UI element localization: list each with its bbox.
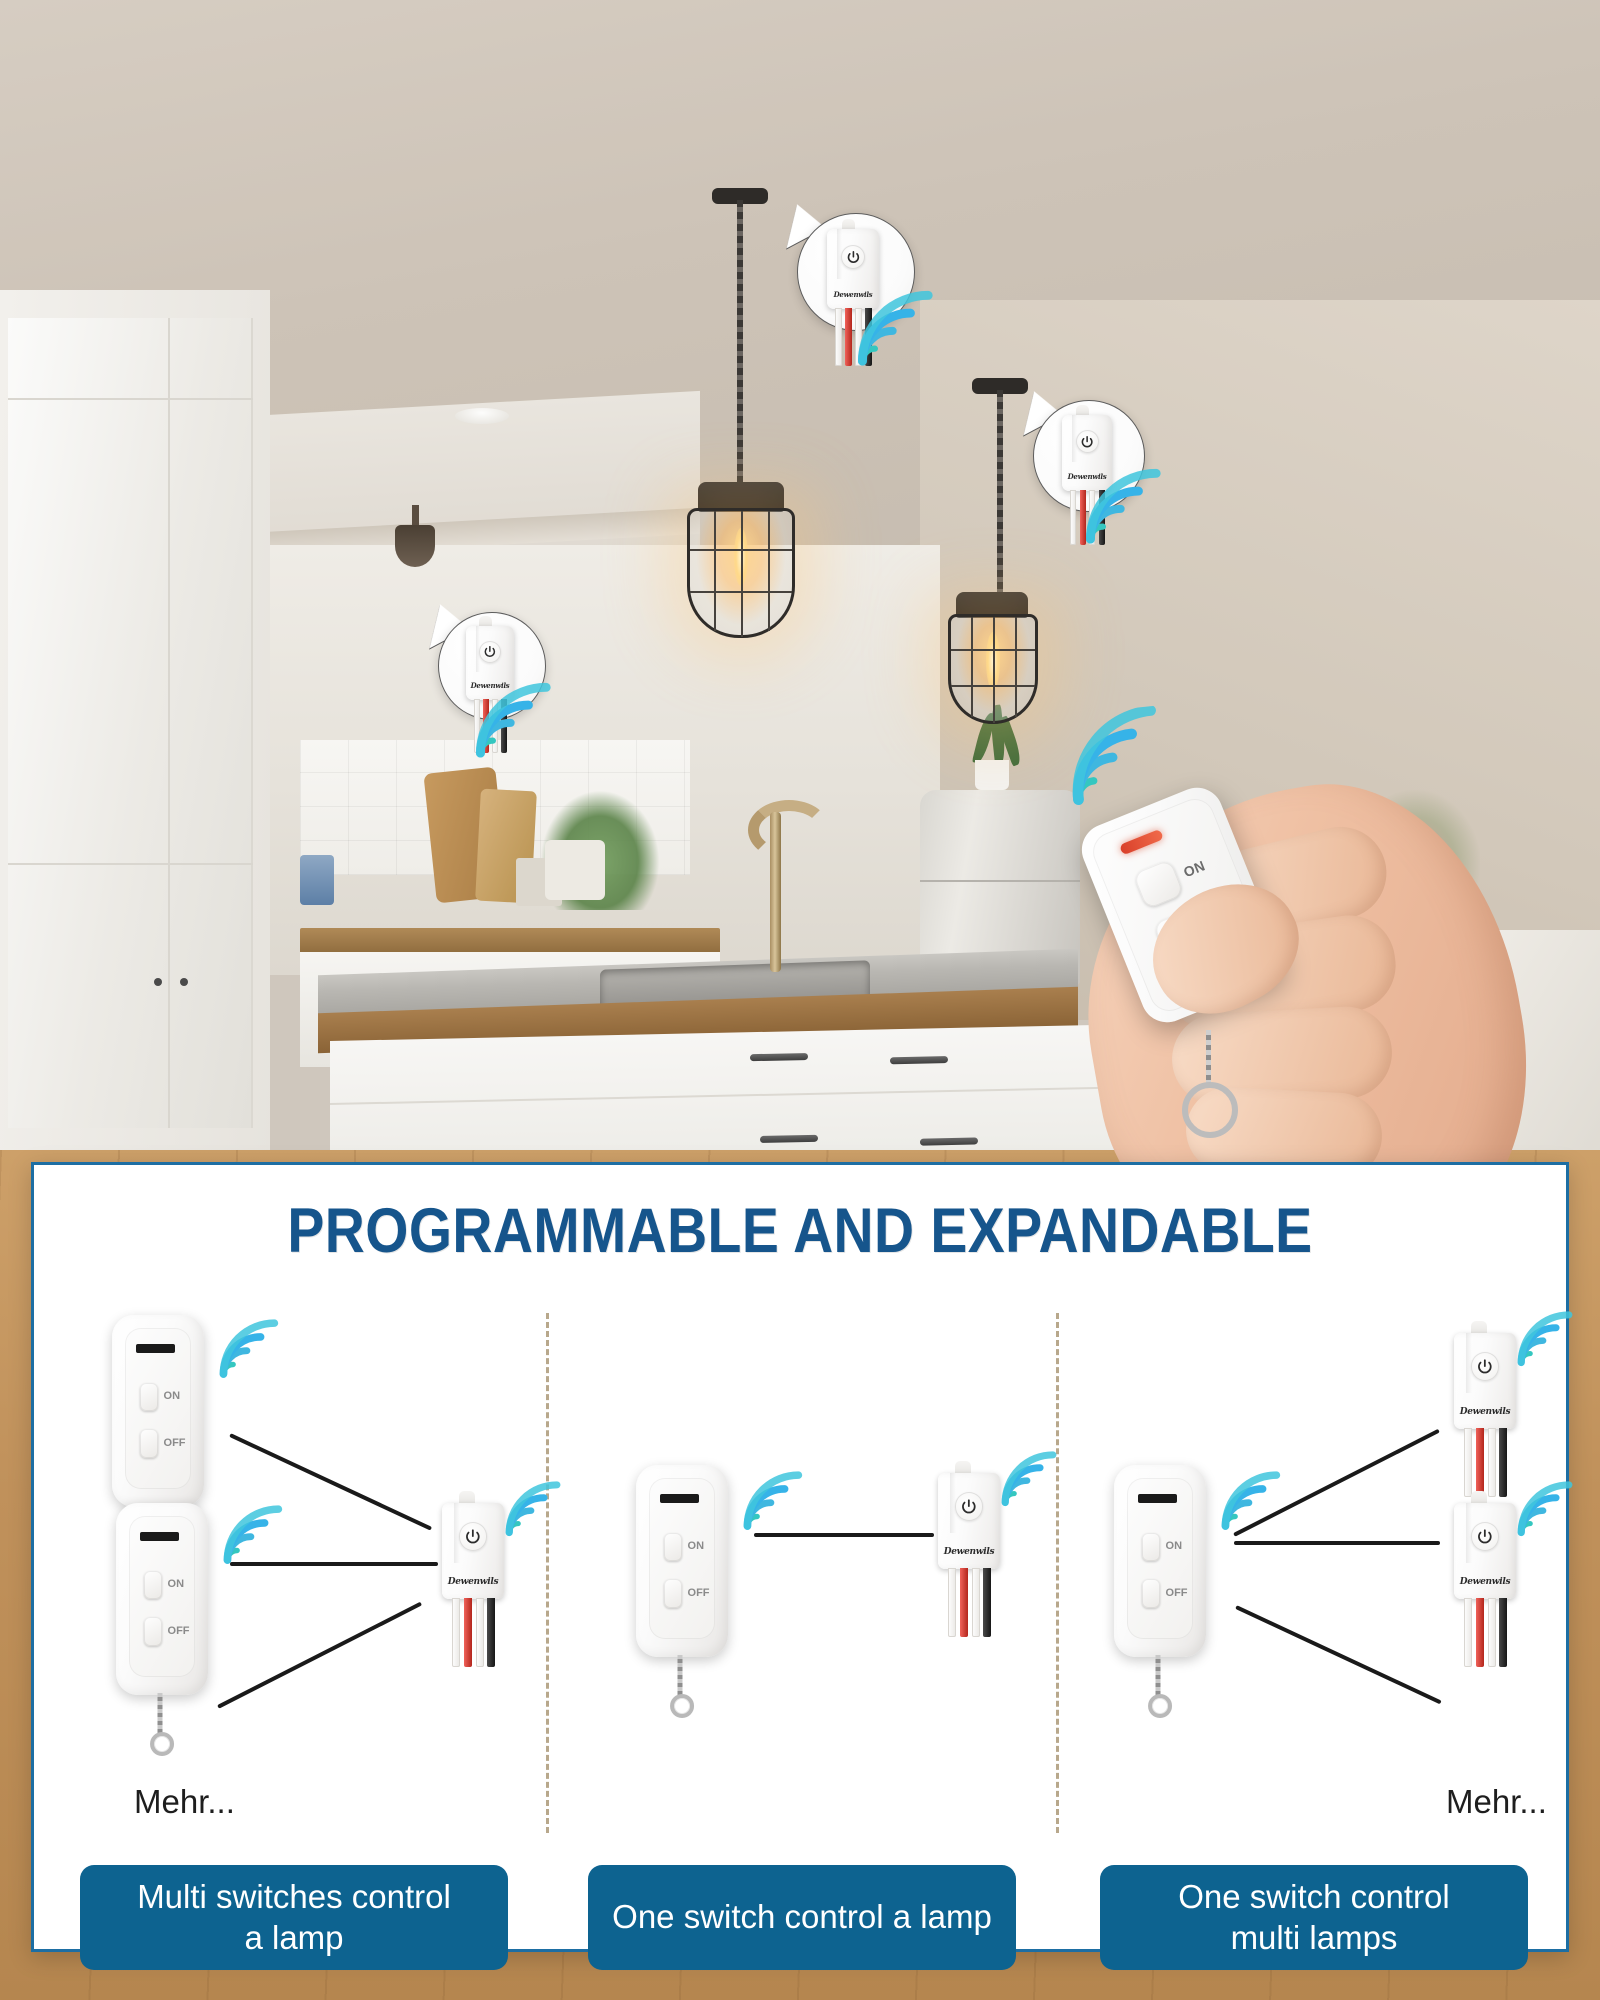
- power-icon: [841, 245, 865, 269]
- keyring-chain: [678, 1655, 683, 1697]
- remote-off-label: OFF: [164, 1437, 186, 1449]
- connection-line: [754, 1533, 934, 1537]
- remote-on-button[interactable]: [664, 1533, 682, 1562]
- more-label: Mehr...: [1446, 1783, 1547, 1821]
- col-multi-switch: ON OFF ON OFF: [34, 1305, 546, 1945]
- caption-line: a lamp: [244, 1918, 343, 1958]
- wifi-signal-icon: [1080, 468, 1172, 548]
- remote-off-button[interactable]: [144, 1617, 162, 1646]
- back-counter: [300, 928, 720, 954]
- caption-one-to-multi: One switch control multi lamps: [1100, 1865, 1528, 1970]
- info-panel: PROGRAMMABLE AND EXPANDABLE ON OFF: [31, 1162, 1569, 1952]
- connection-line: [217, 1602, 422, 1709]
- wifi-signal-icon: [220, 1505, 290, 1567]
- remote-led-indicator: [660, 1494, 699, 1503]
- connection-line: [230, 1562, 438, 1566]
- caption-line: One switch control: [1178, 1877, 1449, 1917]
- remote-off-label: OFF: [688, 1587, 710, 1599]
- keychain-remote[interactable]: ON OFF: [1114, 1465, 1206, 1725]
- lamp-chain-1: [737, 200, 743, 490]
- remote-on-button[interactable]: [1142, 1533, 1160, 1562]
- keyring-icon: [1196, 1030, 1222, 1120]
- receiver-module[interactable]: Dewenwils: [1454, 1503, 1516, 1599]
- remote-off-label: OFF: [1166, 1587, 1188, 1599]
- receiver-brand-label: Dewenwils: [447, 1577, 499, 1587]
- receiver-brand-label: Dewenwils: [943, 1547, 995, 1557]
- faucet-arc: [748, 800, 830, 860]
- wifi-signal-icon: [1514, 1481, 1580, 1539]
- keyring-chain: [158, 1693, 163, 1735]
- keyring-icon: [670, 1694, 694, 1718]
- col-one-to-multi: ON OFF Dewenwils: [1056, 1305, 1566, 1945]
- more-label: Mehr...: [134, 1783, 235, 1821]
- receiver-wires: [948, 1568, 991, 1637]
- remote-on-label: ON: [164, 1390, 181, 1402]
- remote-on-label: ON: [1166, 1540, 1183, 1552]
- caption-line: One switch control a lamp: [612, 1897, 992, 1937]
- spotlight: [395, 525, 435, 567]
- power-icon: [1471, 1522, 1500, 1551]
- keychain-remote[interactable]: ON OFF: [116, 1503, 208, 1763]
- caption-line: multi lamps: [1231, 1918, 1398, 1958]
- wifi-signal-icon-remote: [1057, 705, 1176, 812]
- pendant-lamp-1: [687, 508, 795, 638]
- remote-on-button[interactable]: [140, 1383, 158, 1412]
- receiver-wires: [1464, 1428, 1507, 1497]
- receiver-brand-label: Dewenwils: [1459, 1407, 1511, 1417]
- faucet-stem: [770, 812, 781, 972]
- remote-off-label: OFF: [168, 1625, 190, 1637]
- keyring-icon: [150, 1732, 174, 1756]
- fridge-door-split: [920, 880, 1080, 882]
- caption-line: Multi switches control: [137, 1877, 451, 1917]
- power-icon: [1471, 1352, 1500, 1381]
- receiver-brand-label: Dewenwils: [1459, 1577, 1511, 1587]
- panel-title: PROGRAMMABLE AND EXPANDABLE: [126, 1195, 1474, 1267]
- caption-multi-switch: Multi switches control a lamp: [80, 1865, 508, 1970]
- tall-cabinet: [8, 318, 253, 1128]
- receiver-module[interactable]: Dewenwils: [442, 1503, 504, 1599]
- remote-on-button[interactable]: [144, 1571, 162, 1600]
- wifi-signal-icon: [216, 1319, 286, 1381]
- power-icon: [459, 1522, 488, 1551]
- remote-on-label: ON: [168, 1578, 185, 1590]
- lamp-chain-2: [997, 390, 1003, 600]
- smoke-detector: [455, 408, 509, 424]
- keychain-remote[interactable]: ON OFF: [636, 1465, 728, 1725]
- receiver-module[interactable]: Dewenwils: [1454, 1333, 1516, 1429]
- wifi-signal-icon: [852, 290, 944, 370]
- power-icon: [955, 1492, 984, 1521]
- ceramic-jar: [300, 855, 334, 905]
- remote-on-label: ON: [688, 1540, 705, 1552]
- receiver-wires: [1464, 1598, 1507, 1667]
- wifi-signal-icon: [998, 1451, 1064, 1509]
- connection-line: [1234, 1541, 1440, 1545]
- connection-line: [1235, 1605, 1442, 1704]
- wifi-signal-icon: [470, 682, 562, 762]
- wifi-signal-icon: [740, 1471, 810, 1533]
- wifi-signal-icon: [1514, 1311, 1580, 1369]
- receiver-module[interactable]: Dewenwils: [938, 1473, 1000, 1569]
- remote-led-indicator: [1138, 1494, 1177, 1503]
- remote-led-indicator: [140, 1532, 179, 1541]
- plant-pot: [975, 760, 1009, 790]
- col-one-to-one: ON OFF Dewenwils: [546, 1305, 1056, 1945]
- herb-pot: [545, 840, 605, 900]
- remote-off-button[interactable]: [1142, 1579, 1160, 1608]
- remote-off-button[interactable]: [664, 1579, 682, 1608]
- caption-one-to-one: One switch control a lamp: [588, 1865, 1016, 1970]
- remote-led-indicator: [136, 1344, 175, 1353]
- power-icon: [479, 641, 501, 663]
- keyring-icon: [1148, 1694, 1172, 1718]
- keyring-chain: [1156, 1655, 1161, 1697]
- receiver-wires: [452, 1598, 495, 1667]
- power-icon: [1076, 430, 1099, 453]
- remote-off-button[interactable]: [140, 1429, 158, 1458]
- pendant-lamp-2: [948, 614, 1038, 724]
